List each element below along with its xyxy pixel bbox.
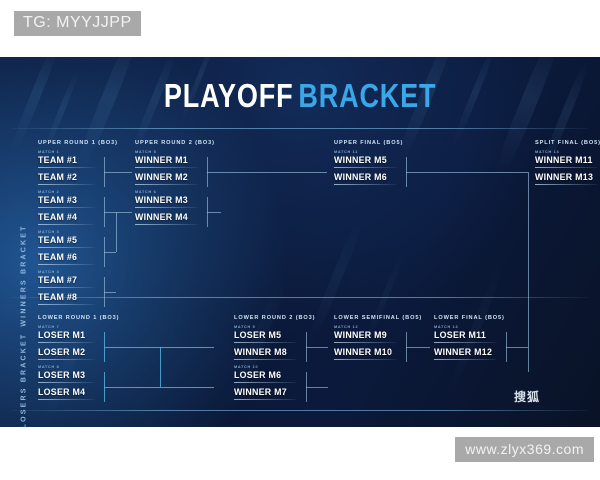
slot-team-2[interactable]: TEAM #2 xyxy=(38,172,77,183)
slot-team-4[interactable]: TEAM #4 xyxy=(38,212,77,223)
slot-team-6[interactable]: TEAM #6 xyxy=(38,252,77,263)
round-header-split-final: SPLIT FINAL (BO5) xyxy=(535,140,600,146)
match-label-6: MATCH 6 xyxy=(135,190,157,194)
slot-winner-m5[interactable]: WINNER M5 xyxy=(334,155,387,166)
round-header-lower-r2: LOWER ROUND 2 (BO3) xyxy=(234,315,315,321)
slot-winner-m12[interactable]: WINNER M12 xyxy=(434,347,492,358)
divider-top xyxy=(12,128,588,129)
connector xyxy=(406,347,430,348)
connector xyxy=(104,347,214,348)
slot-team-3[interactable]: TEAM #3 xyxy=(38,195,77,206)
winners-bracket-label: WINNERS BRACKET xyxy=(21,221,28,331)
connector xyxy=(506,347,528,348)
match-label-4: MATCH 4 xyxy=(38,270,60,274)
slot-loser-m4[interactable]: LOSER M4 xyxy=(38,387,85,398)
match-label-13: MATCH 13 xyxy=(434,325,458,329)
slot-loser-m11[interactable]: LOSER M11 xyxy=(434,330,486,341)
match-label-11: MATCH 11 xyxy=(334,150,358,154)
slot-winner-m4[interactable]: WINNER M4 xyxy=(135,212,188,223)
connector xyxy=(104,292,116,293)
slot-team-8[interactable]: TEAM #8 xyxy=(38,292,77,303)
slot-team-7[interactable]: TEAM #7 xyxy=(38,275,77,286)
slot-winner-m8[interactable]: WINNER M8 xyxy=(234,347,287,358)
slot-loser-m2[interactable]: LOSER M2 xyxy=(38,347,85,358)
connector xyxy=(160,347,161,387)
slot-winner-m10[interactable]: WINNER M10 xyxy=(334,347,392,358)
connector xyxy=(306,387,328,388)
match-label-12: MATCH 12 xyxy=(334,325,358,329)
connector xyxy=(207,172,327,173)
match-label-3: MATCH 3 xyxy=(38,230,60,234)
playoff-bracket-image: PLAYOFFBRACKET WINNERS BRACKET LOSERS BR… xyxy=(0,57,600,427)
connector xyxy=(528,172,529,372)
slot-winner-m13[interactable]: WINNER M13 xyxy=(535,172,593,183)
connector xyxy=(207,212,221,213)
slot-winner-m7[interactable]: WINNER M7 xyxy=(234,387,287,398)
bracket-title: PLAYOFFBRACKET xyxy=(0,77,600,115)
slot-winner-m9[interactable]: WINNER M9 xyxy=(334,330,387,341)
slot-winner-m2[interactable]: WINNER M2 xyxy=(135,172,188,183)
divider-middle xyxy=(12,297,588,298)
slot-loser-m5[interactable]: LOSER M5 xyxy=(234,330,281,341)
round-header-lower-r1: LOWER ROUND 1 (BO3) xyxy=(38,315,119,321)
match-label-8: MATCH 8 xyxy=(38,365,60,369)
slot-winner-m11[interactable]: WINNER M11 xyxy=(535,155,593,166)
losers-bracket-label: LOSERS BRACKET xyxy=(21,326,28,428)
slot-winner-m6[interactable]: WINNER M6 xyxy=(334,172,387,183)
round-header-lower-semifinal: LOWER SEMIFINAL (BO5) xyxy=(334,315,422,321)
divider-bottom xyxy=(12,410,588,411)
round-header-upper-r1: UPPER ROUND 1 (BO3) xyxy=(38,140,118,146)
round-header-upper-final: UPPER FINAL (BO5) xyxy=(334,140,403,146)
connector xyxy=(104,387,214,388)
telegram-watermark: TG: MYYJJPP xyxy=(14,11,141,36)
sohu-watermark: 搜狐 xyxy=(514,388,540,405)
connector xyxy=(104,252,116,253)
connector xyxy=(116,212,117,252)
match-label-10: MATCH 10 xyxy=(234,365,258,369)
slot-loser-m6[interactable]: LOSER M6 xyxy=(234,370,281,381)
round-header-upper-r2: UPPER ROUND 2 (BO3) xyxy=(135,140,215,146)
site-watermark: www.zlyx369.com xyxy=(455,437,594,462)
slot-winner-m3[interactable]: WINNER M3 xyxy=(135,195,188,206)
connector xyxy=(104,172,116,173)
slot-team-5[interactable]: TEAM #5 xyxy=(38,235,77,246)
connector xyxy=(104,212,116,213)
slot-loser-m3[interactable]: LOSER M3 xyxy=(38,370,85,381)
slot-winner-m1[interactable]: WINNER M1 xyxy=(135,155,188,166)
round-header-lower-final: LOWER FINAL (BO5) xyxy=(434,315,505,321)
slot-team-1[interactable]: TEAM #1 xyxy=(38,155,77,166)
title-playoff: PLAYOFF xyxy=(164,77,294,114)
match-label-9: MATCH 9 xyxy=(234,325,256,329)
match-label-14: MATCH 14 xyxy=(535,150,559,154)
match-label-5: MATCH 5 xyxy=(135,150,157,154)
match-label-7: MATCH 7 xyxy=(38,325,60,329)
title-bracket: BRACKET xyxy=(298,77,436,114)
connector xyxy=(306,347,328,348)
connector xyxy=(406,172,528,173)
connector xyxy=(116,172,132,173)
match-label-2: MATCH 2 xyxy=(38,190,60,194)
connector xyxy=(116,212,132,213)
match-label-1: MATCH 1 xyxy=(38,150,60,154)
slot-loser-m1[interactable]: LOSER M1 xyxy=(38,330,85,341)
